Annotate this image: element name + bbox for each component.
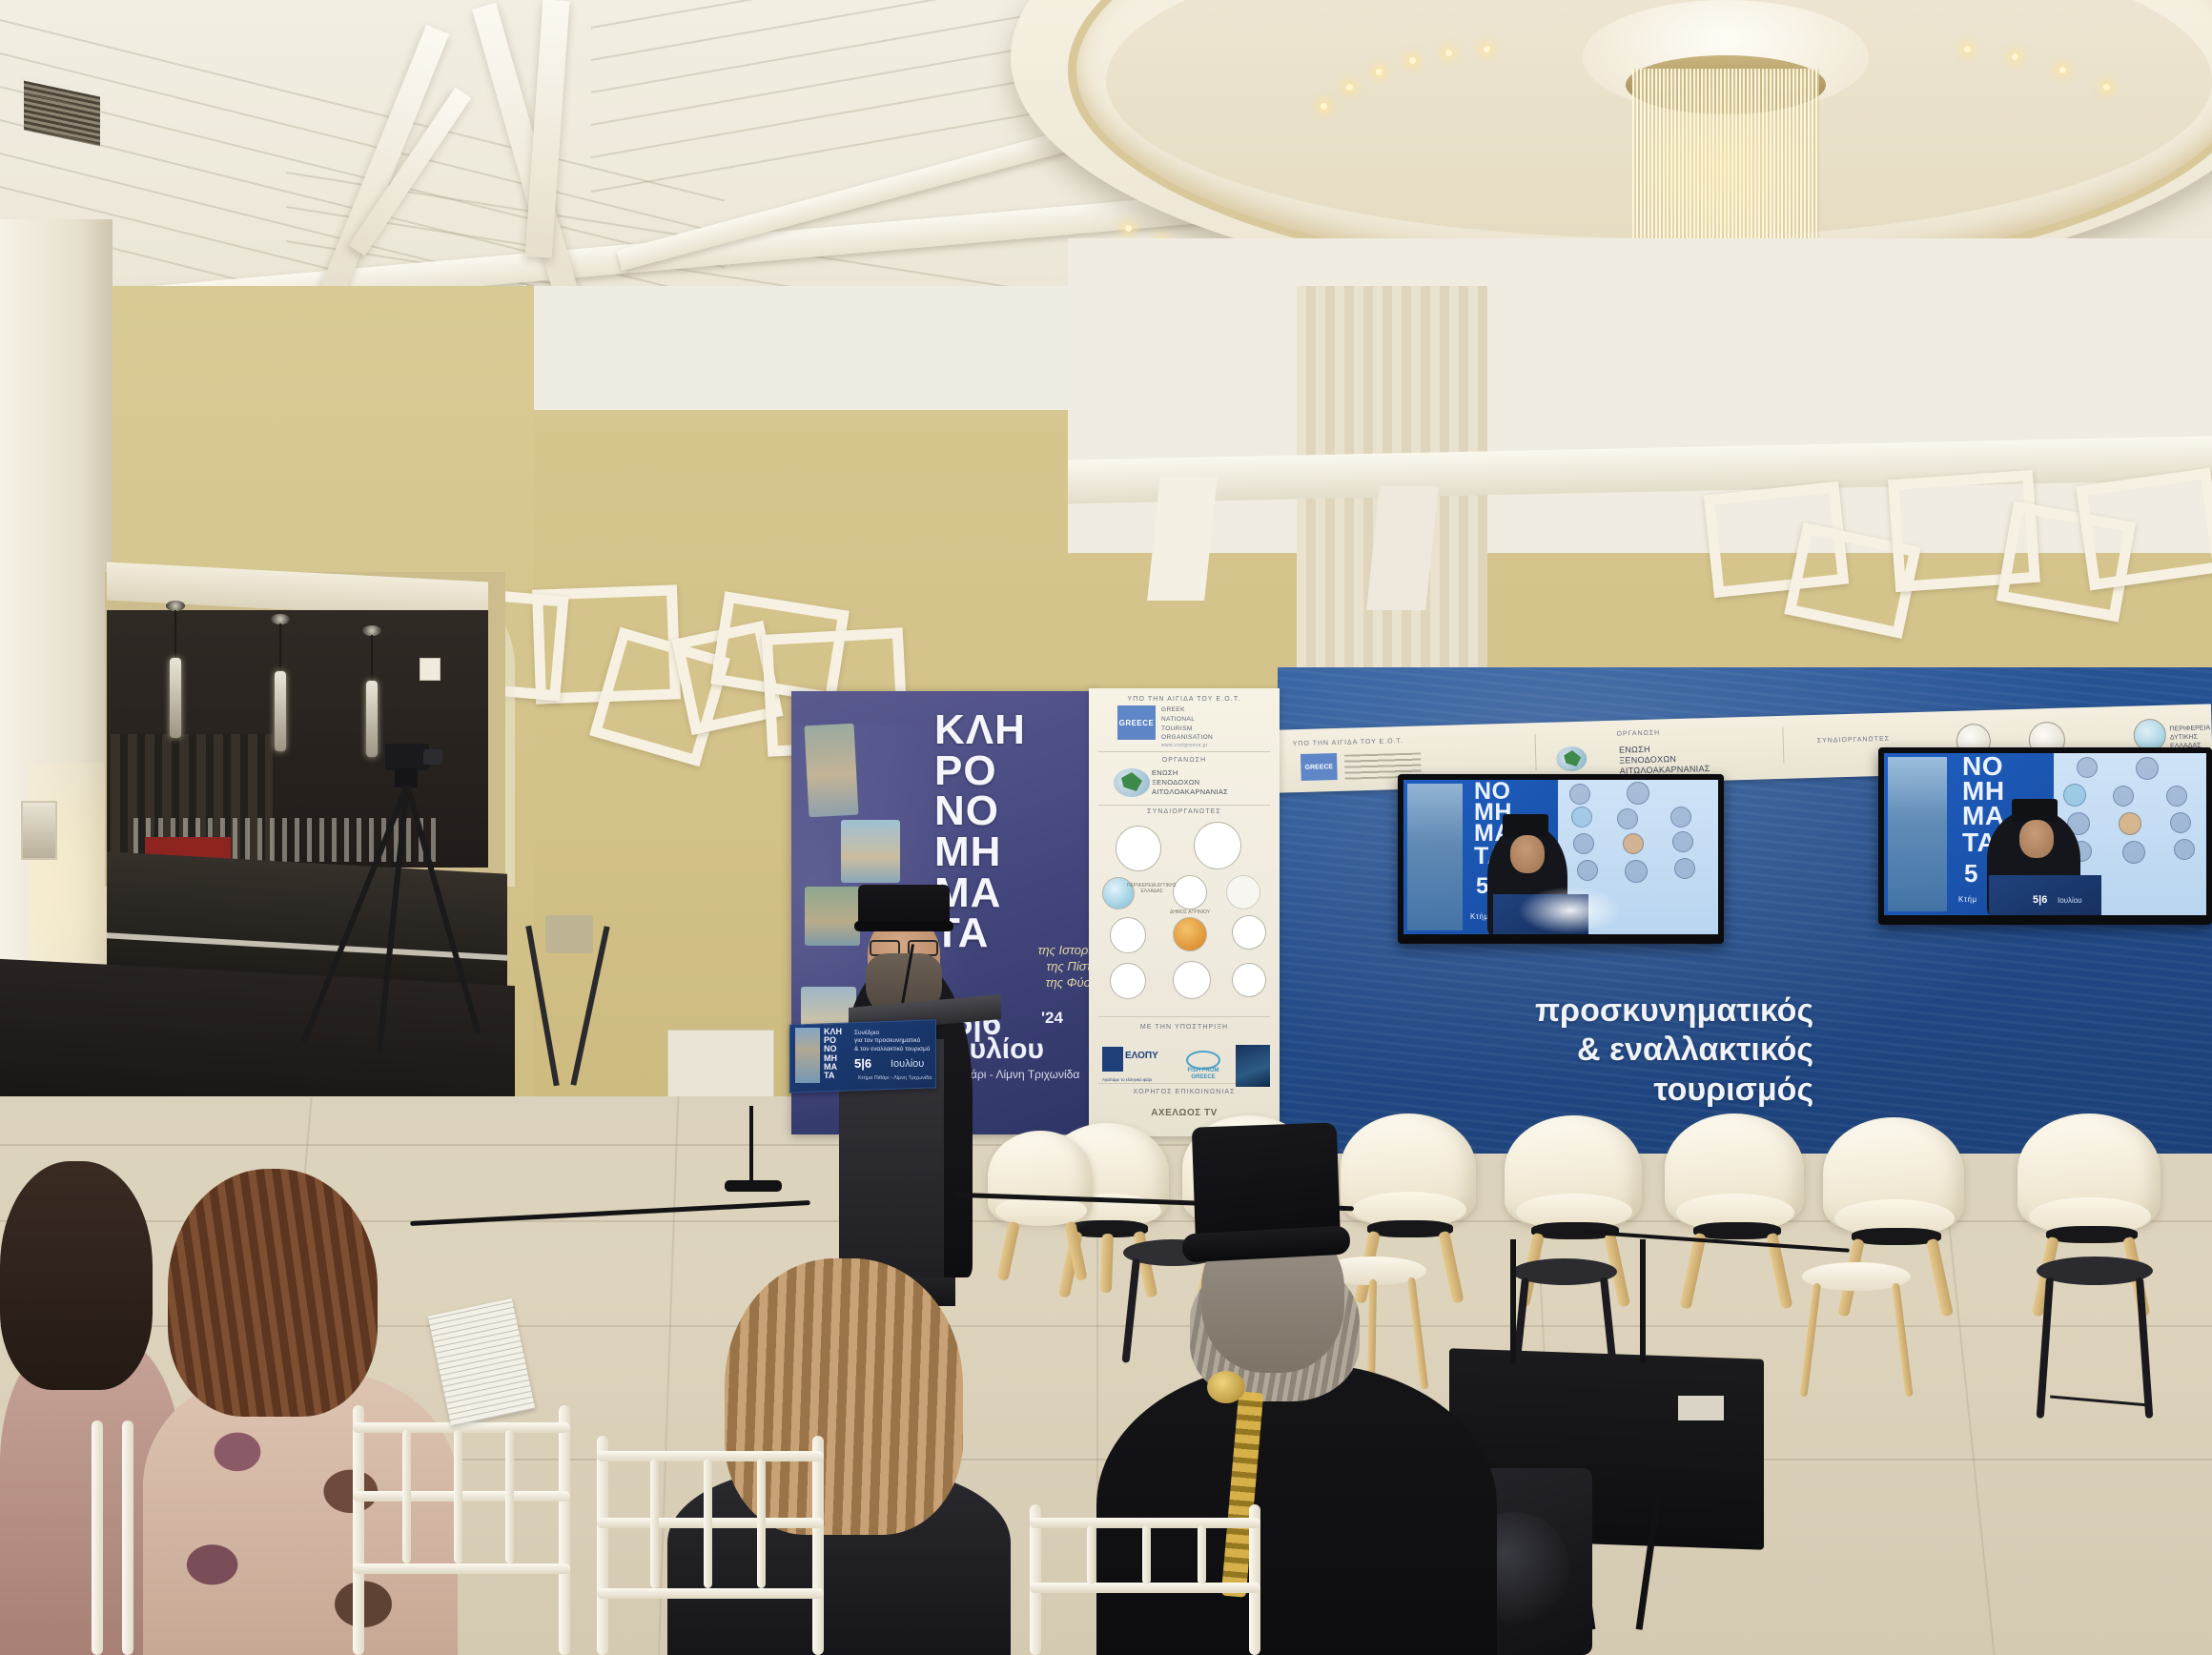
tv-left-seal-8 [1672, 831, 1693, 852]
logo-strip-caption-2: ΟΡΓΑΝΩΣΗ [1616, 729, 1660, 737]
tv-right-speaker-face [2019, 820, 2054, 858]
banner-title-line-5: ΜΑ [934, 873, 1077, 914]
chair-leg [1438, 1231, 1464, 1304]
tv-left-caption: Κτήμ [1470, 913, 1489, 921]
sponsor-seal-10 [1173, 961, 1211, 999]
chandelier-glow [1621, 86, 1831, 257]
org-name-strip: ΕΝΩΣΗ ΞΕΝΟΔΟΧΩΝ ΑΙΤΩΛΟΑΚΑΡΝΑΝΙΑΣ [1619, 743, 1710, 777]
chair-leg [1064, 1221, 1088, 1281]
banner-photo-3 [805, 887, 860, 946]
seated-clergy-medallion-icon [1207, 1371, 1245, 1403]
sponsor-heading-3: ΣΥΝΔΙΟΡΓΑΝΩΤΕΣ [1089, 808, 1280, 815]
podium-sign-location: Κτήμα Πιθάρι - Λίμνη Τριχωνίδα [858, 1075, 932, 1081]
wall-sconce-icon [21, 801, 57, 860]
stage-chair-8 [988, 1131, 1102, 1302]
table-cross-brace [2050, 1395, 2149, 1406]
banner-location: Πιθάρι - Λίμνη Τριχωνίδα [953, 1068, 1079, 1081]
tv-right-seal-3 [2063, 784, 2086, 807]
tv-right-seal-11 [2174, 839, 2195, 860]
sponsor-seal-8 [1232, 915, 1266, 950]
fish-icon [1186, 1051, 1220, 1070]
wall-switch-icon [420, 658, 440, 681]
eot-logo-badge: GREECE [1117, 705, 1156, 740]
tv-left-photo-strip [1407, 784, 1463, 930]
monitor-spec-label [1678, 1396, 1724, 1420]
sponsor-seal-9 [1110, 963, 1146, 999]
tv-right-seal-2 [2136, 757, 2159, 780]
org-text-line-2: ΞΕΝΟΔΟΧΩΝ [1152, 778, 1228, 787]
eot-text-line-4: ORGANISATION [1161, 733, 1213, 743]
sponsor-seal-caption-agrinio: ΔΗΜΟΣ ΑΓΡΙΝΙΟΥ [1161, 909, 1219, 915]
fish-from-greece-logo: FISH FROM GREECE [1182, 1049, 1224, 1087]
elopy-logo-icon [1102, 1047, 1123, 1072]
photo-scene: ΥΠΟ ΤΗΝ ΑΙΓΙΔΑ ΤΟΥ Ε.Ο.Τ. GREECE ΟΡΓΑΝΩΣ… [0, 0, 2212, 1655]
eot-badge-strip: GREECE [1301, 753, 1338, 781]
org-text-line-1: ΕΝΩΣΗ [1152, 768, 1228, 778]
pendant-wire-1 [174, 610, 176, 660]
sponsor-heading-4: ΜΕ ΤΗΝ ΥΠΟΣΤΗΡΙΞΗ [1089, 1024, 1280, 1031]
audience-chair-2 [353, 1405, 578, 1655]
sponsor-seal-11 [1232, 963, 1266, 997]
podium-sign-title: ΚΛΗ ΡΟ ΝΟ ΜΗ ΜΑ ΤΑ [824, 1028, 842, 1080]
tv-right-sign-month: Ιουλίου [2058, 896, 2082, 905]
podium-desc-line-2: για τον προσκυνηματικό [854, 1037, 930, 1045]
tv-left-seal-7 [1623, 833, 1644, 854]
speaker-glasses-icon [870, 940, 938, 952]
sponsor-seal-2 [1194, 822, 1241, 869]
stage-chair-5 [1665, 1114, 1813, 1319]
headline-line-2: & εναλλακτικός [1535, 1031, 1813, 1070]
tv-left-speaker-face [1510, 835, 1545, 873]
table-leg [1799, 1283, 1821, 1398]
eot-text-line-2: NATIONAL [1161, 715, 1213, 725]
banner-year: '24 [1041, 1009, 1063, 1028]
audience-person-2-hair [168, 1169, 378, 1417]
banner-title-line-4: ΜΗ [934, 832, 1077, 873]
podium-title-line-6: ΤΑ [824, 1072, 842, 1080]
tv-right-podium-sign: 5|6 Ιουλίου [1989, 875, 2101, 915]
tv-right-seal-5 [2166, 786, 2187, 807]
table-leg [1407, 1277, 1428, 1390]
sponsor-seal-caption-region: ΠΕΡΙΦΕΡΕΙΑ ΔΥΤΙΚΗΣ ΕΛΛΑΔΑΣ [1123, 883, 1180, 894]
chair-leg [996, 1221, 1020, 1281]
tv-right-number: 5 [1964, 862, 1978, 886]
chair-leg [1926, 1238, 1954, 1318]
logo-strip-caption-3: ΣΥΝΔΙΟΡΓΑΝΩΤΕΣ [1817, 736, 1890, 745]
table-leg [2136, 1277, 2153, 1419]
tv-left-seal-2 [1627, 782, 1649, 805]
banner-photo-1 [805, 724, 859, 818]
tv-left-seal-10 [1625, 860, 1648, 883]
tv-right-photo-strip [1888, 757, 1947, 911]
eot-badge-text: GREECE [1119, 719, 1155, 727]
table-leg [1367, 1279, 1377, 1384]
decorative-frame-10 [2076, 468, 2212, 591]
podium-sign-description: Συνέδριο για τον προσκυνηματικό & τον εν… [854, 1030, 930, 1053]
eot-text-line-1: GREEK [1161, 705, 1213, 715]
org-text-line-3: ΑΙΤΩΛΟΑΚΑΡΝΑΝΙΑΣ [1152, 787, 1228, 797]
tv-left-seal-9 [1577, 860, 1598, 881]
sponsor-heading-2: ΟΡΓΑΝΩΣΗ [1089, 757, 1280, 764]
eot-text-line-3: TOURISM [1161, 725, 1213, 734]
tv-left-seal-11 [1674, 858, 1695, 879]
eot-url-text: www.visitgreece.gr [1161, 743, 1213, 750]
banner-title-line-1: ΚΛΗ [934, 710, 1077, 751]
sponsor-seal-7 [1173, 917, 1207, 951]
pendant-wire-2 [279, 623, 281, 673]
fish-label: FISH FROM GREECE [1182, 1068, 1224, 1081]
podium-sign-month: Ιουλίου [891, 1058, 924, 1070]
podium-sign-photo-strip [795, 1028, 820, 1083]
audience-chair-3 [597, 1436, 831, 1655]
tv-right-seal-1 [2077, 757, 2098, 778]
tv-left-seal-4 [1617, 808, 1638, 829]
sponsor-dark-logo [1236, 1045, 1270, 1087]
tv-left-screen: ΝΟ ΜΗ ΜΑ ΤΑ 5 Κτήμ [1403, 780, 1718, 934]
audience-chair-4 [1030, 1504, 1268, 1655]
tv-right-seal-8 [2170, 812, 2191, 833]
audience-chair-1 [92, 1420, 135, 1655]
tv-display-right: ΝΟ ΜΗ ΜΑ ΤΑ 5 Κτήμ 5| [1878, 747, 2212, 925]
banner-title-line-2: ΡΟ [934, 751, 1077, 792]
tv-left-seal-6 [1573, 833, 1594, 854]
tv-right-screen: ΝΟ ΜΗ ΜΑ ΤΑ 5 Κτήμ 5| [1884, 753, 2206, 915]
region-line-1: ΠΕΡΙΦΕΡΕΙΑ [2170, 725, 2211, 734]
tv-left-speaker-hat [1503, 814, 1548, 837]
podium-sign-date: 5|6 [854, 1056, 871, 1071]
pendant-lamp-1 [170, 658, 181, 738]
side-table-4 [2037, 1257, 2159, 1428]
eot-logo-text: GREEK NATIONAL TOURISM ORGANISATION www.… [1161, 705, 1213, 750]
table-leg [1122, 1258, 1140, 1363]
elopy-label: ΕΛΟΠΥ [1125, 1051, 1158, 1061]
sponsor-seal-1 [1116, 826, 1161, 871]
sponsor-heading-5: ΧΟΡΗΓΟΣ ΕΠΙΚΟΙΝΩΝΙΑΣ [1089, 1089, 1280, 1095]
equipment-easel-top [545, 915, 593, 953]
tv-left-seal-1 [1569, 784, 1590, 805]
podium-desc-line-3: & τον εναλλακτικό τουρισμό [854, 1046, 930, 1053]
banner-title-line-3: ΝΟ [934, 791, 1077, 832]
chair-leg [1679, 1233, 1706, 1310]
pendant-lamp-3 [366, 681, 378, 757]
tv-right-seal-10 [2122, 841, 2145, 864]
pendant-lamp-2 [275, 671, 286, 751]
logo-strip-caption-1: ΥΠΟ ΤΗΝ ΑΙΓΙΔΑ ΤΟΥ Ε.Ο.Τ. [1293, 738, 1404, 747]
banner-photo-2 [841, 820, 900, 883]
org-logo-text: ΕΝΩΣΗ ΞΕΝΟΔΟΧΩΝ ΑΙΤΩΛΟΑΚΑΡΝΑΝΙΑΣ [1152, 768, 1228, 797]
sponsor-heading-1: ΥΠΟ ΤΗΝ ΑΙΓΙΔΑ ΤΟΥ Ε.Ο.Τ. [1089, 696, 1280, 703]
monitor-pole-1 [1510, 1239, 1516, 1363]
tv-right-seal-4 [2113, 786, 2134, 807]
mic-stand-pole [749, 1106, 753, 1186]
side-table-3 [1802, 1262, 1916, 1409]
speaker-hat-brim [854, 921, 953, 931]
monitor-pole-2 [1640, 1239, 1646, 1363]
sponsor-seal-5 [1226, 875, 1260, 909]
tv-right-speaker-hat [2012, 799, 2058, 822]
mic-stand-base [725, 1180, 782, 1192]
headline-line-3: τουρισμός [1535, 1071, 1813, 1110]
headline-line-1: προσκυνηματικός [1535, 991, 1813, 1031]
audience-person-1-hair [0, 1161, 153, 1390]
tv-left-seal-3 [1571, 807, 1592, 827]
banner-title: ΚΛΗ ΡΟ ΝΟ ΜΗ ΜΑ ΤΑ [934, 710, 1077, 954]
sponsor-seal-6 [1110, 917, 1146, 953]
tv-left-glare [1518, 887, 1623, 934]
tv-right-sign-date: 5|6 [2033, 894, 2047, 906]
pendant-wire-3 [371, 635, 373, 683]
camera-lens-icon [423, 749, 442, 765]
tv-left-seal-5 [1670, 807, 1691, 827]
tv-right-caption: Κτήμ [1958, 896, 1977, 904]
elopy-tagline: Αγαπάμε το ελληνικό ψάρι [1102, 1077, 1161, 1083]
table-leg [1892, 1283, 1914, 1398]
tv-right-seal-7 [2119, 812, 2141, 835]
tv-display-left: ΝΟ ΜΗ ΜΑ ΤΑ 5 Κτήμ [1398, 774, 1724, 944]
blue-wall-headline: προσκυνηματικός & εναλλακτικός τουρισμός [1535, 991, 1813, 1110]
